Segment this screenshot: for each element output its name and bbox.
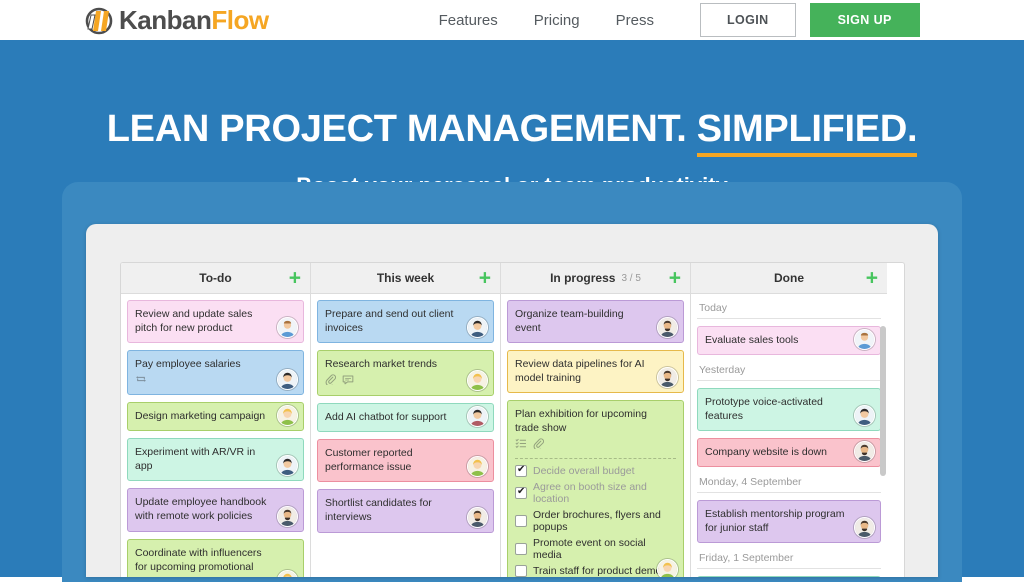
nav-actions: LOGIN SIGN UP: [700, 3, 920, 37]
board-column-todo: To-do + Review and update sales pitch fo…: [121, 263, 311, 577]
checklist-label: Decide overall budget: [533, 465, 635, 477]
card[interactable]: Experiment with AR/VR in app: [127, 438, 304, 481]
card-title: Company website is down: [705, 445, 873, 459]
card-title: Pay employee salaries: [135, 357, 296, 371]
kanban-board: To-do + Review and update sales pitch fo…: [120, 262, 905, 577]
date-group-header: Friday, 1 September: [697, 550, 881, 569]
card[interactable]: Prepare and send out client invoices: [317, 300, 494, 343]
card-title: Establish mentorship program for junior …: [705, 507, 873, 535]
card[interactable]: Design marketing campaign: [127, 402, 304, 431]
checklist-label: Train staff for product demos: [533, 565, 667, 577]
checklist-item[interactable]: Train staff for product demos: [515, 565, 676, 577]
nav-links: Features Pricing Press: [439, 12, 654, 29]
avatar: [277, 506, 298, 527]
checkbox-icon[interactable]: [515, 543, 527, 555]
card-icons: [325, 374, 486, 388]
checklist-item[interactable]: Order brochures, flyers and popups: [515, 509, 676, 533]
column-scrollbar[interactable]: [880, 326, 886, 577]
hero-title-main: LEAN PROJECT MANAGEMENT.: [107, 108, 687, 150]
hero-title-accent: SIMPLIFIED.: [697, 108, 918, 157]
column-header-this-week: This week +: [311, 263, 500, 294]
nav-link-pricing[interactable]: Pricing: [534, 12, 580, 29]
avatar: [657, 317, 678, 338]
column-header-todo: To-do +: [121, 263, 310, 294]
card-title: Experiment with AR/VR in app: [135, 445, 296, 473]
card-title: Customer reported performance issue: [325, 446, 486, 474]
column-body-in-progress[interactable]: Organize team-building event Review data…: [501, 294, 690, 577]
card-title: Review and update sales pitch for new pr…: [135, 307, 296, 335]
checkbox-icon[interactable]: [515, 487, 527, 499]
date-group-header: Monday, 4 September: [697, 474, 881, 493]
card-title: Review data pipelines for AI model train…: [515, 357, 676, 385]
brand-name-second: Flow: [211, 5, 268, 35]
card[interactable]: Establish mentorship program for junior …: [697, 500, 881, 543]
plus-icon[interactable]: +: [669, 268, 681, 289]
checklist-label: Agree on booth size and location: [533, 481, 676, 505]
checklist-item[interactable]: Decide overall budget: [515, 465, 676, 477]
column-header-done: Done +: [691, 263, 887, 294]
repeat-icon: [135, 374, 147, 387]
card-title: Prepare and send out client invoices: [325, 307, 486, 335]
board-column-in-progress: In progress 3 / 5 + Organize team-buildi…: [501, 263, 691, 577]
card[interactable]: Shortlist candidates for interviews: [317, 489, 494, 532]
column-title: In progress: [550, 271, 615, 285]
card[interactable]: Update employee handbook with remote wor…: [127, 488, 304, 531]
column-body-done[interactable]: Today Evaluate sales tools Yesterday Pro…: [691, 294, 887, 577]
card[interactable]: Add AI chatbot for support: [317, 403, 494, 432]
signup-button[interactable]: SIGN UP: [810, 3, 920, 37]
card-title: Organize team-building event: [515, 307, 676, 335]
avatar: [657, 559, 678, 577]
attachment-icon: [533, 438, 544, 452]
checklist-item[interactable]: Promote event on social media: [515, 537, 676, 561]
login-button[interactable]: LOGIN: [700, 3, 796, 37]
card-icons: [515, 438, 676, 452]
brand-name-first: Kanban: [119, 5, 211, 35]
card-title: Design marketing campaign: [135, 409, 296, 423]
page-title: LEAN PROJECT MANAGEMENT. SIMPLIFIED.: [0, 108, 1024, 151]
column-title: To-do: [199, 271, 231, 285]
avatar: [854, 329, 875, 350]
checkbox-icon[interactable]: [515, 515, 527, 527]
brand-logo[interactable]: KanbanFlow: [84, 0, 269, 40]
avatar: [467, 317, 488, 338]
card[interactable]: Review data pipelines for AI model train…: [507, 350, 684, 393]
attachment-icon: [325, 374, 336, 388]
checklist-icon: [515, 438, 527, 452]
card[interactable]: Pay employee salaries: [127, 350, 304, 395]
scrollbar-thumb[interactable]: [880, 326, 886, 476]
column-title: This week: [377, 271, 434, 285]
column-wip-count: 3 / 5: [621, 273, 640, 284]
column-title: Done: [774, 271, 804, 285]
column-body-todo[interactable]: Review and update sales pitch for new pr…: [121, 294, 310, 577]
plus-icon[interactable]: +: [866, 268, 878, 289]
card[interactable]: Customer reported performance issue: [317, 439, 494, 482]
card[interactable]: Organize team-building event: [507, 300, 684, 343]
card-icons: [135, 374, 296, 387]
nav-link-press[interactable]: Press: [616, 12, 654, 29]
comment-icon: [342, 375, 354, 388]
checklist-label: Order brochures, flyers and popups: [533, 509, 676, 533]
card-title: Update employee handbook with remote wor…: [135, 495, 296, 523]
avatar: [467, 507, 488, 528]
checklist-item[interactable]: Agree on booth size and location: [515, 481, 676, 505]
column-header-in-progress: In progress 3 / 5 +: [501, 263, 690, 294]
nav-link-features[interactable]: Features: [439, 12, 498, 29]
checklist-label: Promote event on social media: [533, 537, 676, 561]
plus-icon[interactable]: +: [289, 268, 301, 289]
date-group-header: Yesterday: [697, 362, 881, 381]
card-title: Shortlist candidates for interviews: [325, 496, 486, 524]
card-title: Research market trends: [325, 357, 486, 371]
top-navbar: KanbanFlow Features Pricing Press LOGIN …: [0, 0, 1024, 42]
card[interactable]: Evaluate sales tools: [697, 326, 881, 355]
card[interactable]: Coordinate with influencers for upcoming…: [127, 539, 304, 578]
card-with-checklist[interactable]: Plan exhibition for upcoming trade show …: [507, 400, 684, 577]
plus-icon[interactable]: +: [479, 268, 491, 289]
checkbox-icon[interactable]: [515, 465, 527, 477]
card[interactable]: Research market trends: [317, 350, 494, 396]
kanbanflow-logo-icon: [84, 5, 114, 35]
card[interactable]: Prototype voice-activated features: [697, 388, 881, 431]
card-title: Coordinate with influencers for upcoming…: [135, 546, 296, 578]
card-title: Add AI chatbot for support: [325, 410, 486, 424]
board-column-this-week: This week + Prepare and send out client …: [311, 263, 501, 577]
avatar: [277, 317, 298, 338]
brand-name: KanbanFlow: [119, 7, 269, 33]
date-group-header: Today: [697, 300, 881, 319]
card-title: Prototype voice-activated features: [705, 395, 873, 423]
card-title: Evaluate sales tools: [705, 333, 873, 347]
column-body-this-week[interactable]: Prepare and send out client invoices Res…: [311, 294, 500, 577]
checklist: Decide overall budget Agree on booth siz…: [515, 458, 676, 577]
checkbox-icon[interactable]: [515, 565, 527, 577]
board-column-done: Done + Today Evaluate sales tools Yester…: [691, 263, 887, 577]
card-title: Plan exhibition for upcoming trade show: [515, 407, 676, 435]
card[interactable]: Company website is down: [697, 438, 881, 467]
card[interactable]: Review and update sales pitch for new pr…: [127, 300, 304, 343]
